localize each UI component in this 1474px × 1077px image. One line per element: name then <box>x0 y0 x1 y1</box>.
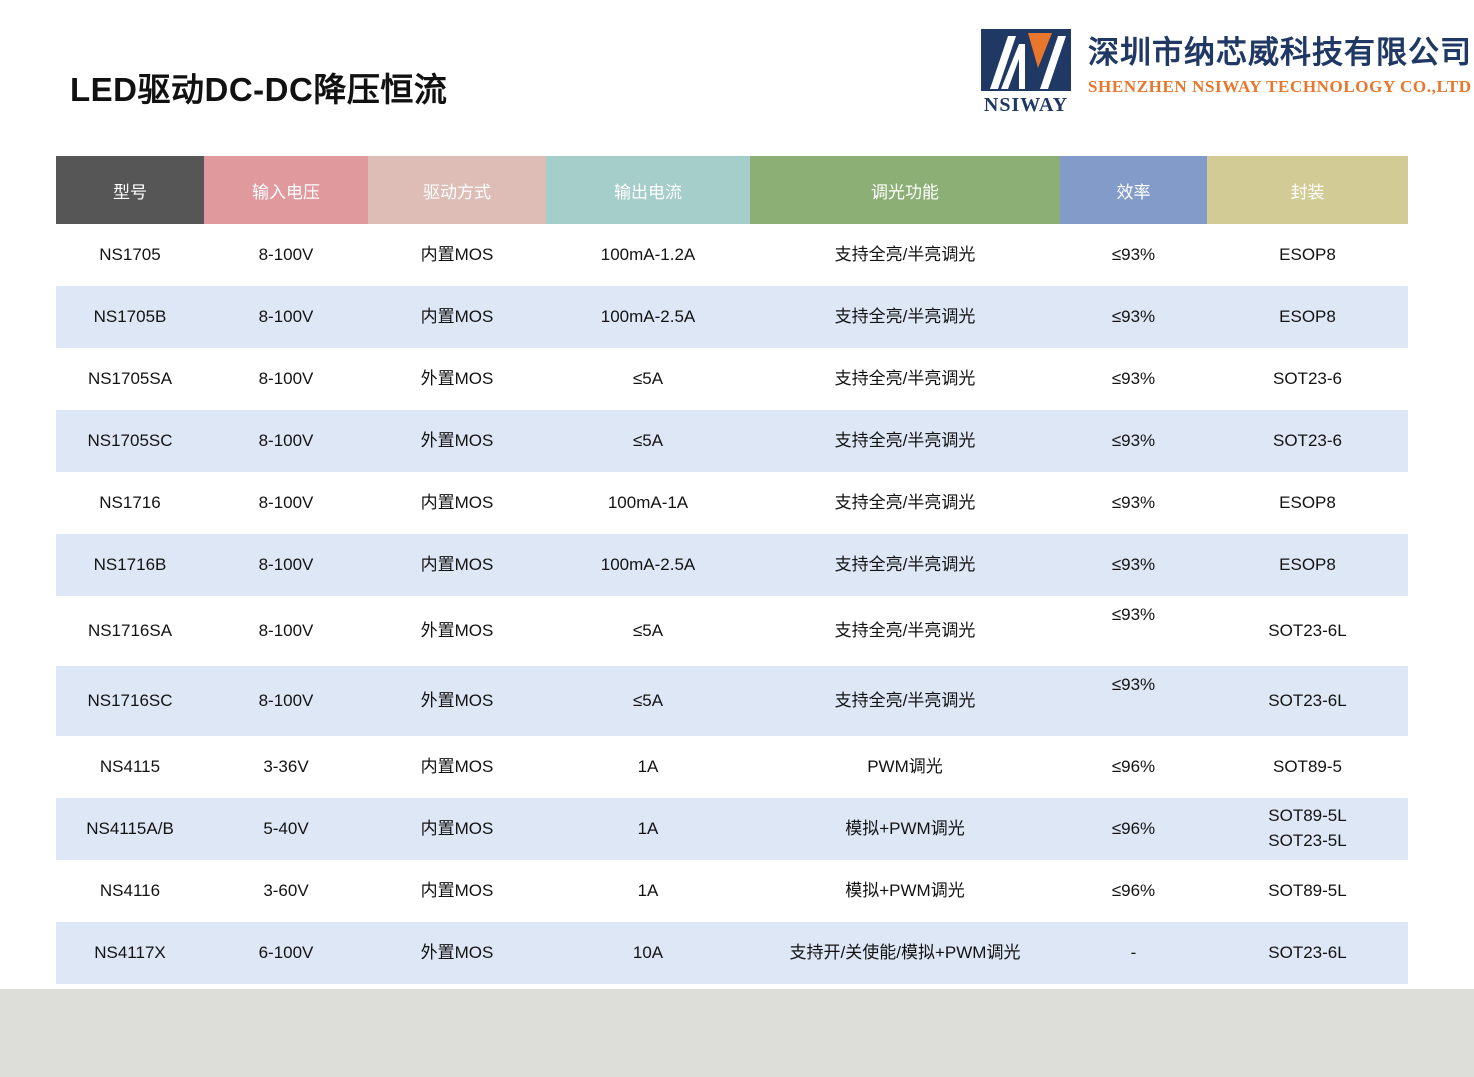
cell-input-voltage: 8-100V <box>204 410 368 472</box>
cell-drive-type: 内置MOS <box>368 286 546 348</box>
cell-dimming: 支持全亮/半亮调光 <box>750 534 1060 596</box>
cell-drive-type: 内置MOS <box>368 224 546 286</box>
cell-dimming: 支持开/关使能/模拟+PWM调光 <box>750 922 1060 984</box>
cell-model: NS4115 <box>56 736 204 798</box>
product-spec-table: 型号 输入电压 驱动方式 输出电流 调光功能 效率 封装 NS1705 8-10… <box>56 156 1408 984</box>
slide-canvas: LED驱动DC-DC降压恒流 NSIWAY 深圳市纳芯威科技有限公司 <box>0 0 1474 1077</box>
cell-package: SOT23-6L <box>1207 596 1408 666</box>
cell-output-current: 1A <box>546 860 750 922</box>
table-row: NS1716SA 8-100V 外置MOS ≤5A 支持全亮/半亮调光 ≤93%… <box>56 596 1408 666</box>
table-row: NS4116 3-60V 内置MOS 1A 模拟+PWM调光 ≤96% SOT8… <box>56 860 1408 922</box>
cell-efficiency: - <box>1060 922 1207 984</box>
cell-dimming: 支持全亮/半亮调光 <box>750 472 1060 534</box>
page-title: LED驱动DC-DC降压恒流 <box>70 63 447 111</box>
column-header-output-current: 输出电流 <box>546 156 750 224</box>
company-branding: NSIWAY 深圳市纳芯威科技有限公司 SHENZHEN NSIWAY TECH… <box>978 26 1472 118</box>
cell-dimming: 支持全亮/半亮调光 <box>750 410 1060 472</box>
table-row: NS1705SC 8-100V 外置MOS ≤5A 支持全亮/半亮调光 ≤93%… <box>56 410 1408 472</box>
cell-efficiency: ≤93% <box>1060 410 1207 472</box>
cell-input-voltage: 8-100V <box>204 286 368 348</box>
company-name-en: SHENZHEN NSIWAY TECHNOLOGY CO.,LTD <box>1088 77 1472 97</box>
cell-output-current: 100mA-2.5A <box>546 534 750 596</box>
cell-drive-type: 内置MOS <box>368 736 546 798</box>
cell-output-current: ≤5A <box>546 348 750 410</box>
cell-output-current: 100mA-1A <box>546 472 750 534</box>
cell-dimming: 支持全亮/半亮调光 <box>750 224 1060 286</box>
cell-package: SOT89-5 <box>1207 736 1408 798</box>
cell-package: SOT23-6 <box>1207 410 1408 472</box>
cell-input-voltage: 8-100V <box>204 596 368 666</box>
svg-text:NSIWAY: NSIWAY <box>984 94 1068 116</box>
cell-package: SOT23-6 <box>1207 348 1408 410</box>
table-row: NS1705 8-100V 内置MOS 100mA-1.2A 支持全亮/半亮调光… <box>56 224 1408 286</box>
table-row: NS1705B 8-100V 内置MOS 100mA-2.5A 支持全亮/半亮调… <box>56 286 1408 348</box>
cell-input-voltage: 8-100V <box>204 534 368 596</box>
column-header-input-voltage: 输入电压 <box>204 156 368 224</box>
column-header-package: 封装 <box>1207 156 1408 224</box>
cell-output-current: 10A <box>546 922 750 984</box>
cell-model: NS1705SA <box>56 348 204 410</box>
cell-input-voltage: 8-100V <box>204 472 368 534</box>
cell-output-current: 1A <box>546 798 750 860</box>
cell-model: NS1716SA <box>56 596 204 666</box>
cell-package: ESOP8 <box>1207 224 1408 286</box>
cell-model: NS1705B <box>56 286 204 348</box>
cell-input-voltage: 6-100V <box>204 922 368 984</box>
cell-drive-type: 内置MOS <box>368 472 546 534</box>
cell-model: NS1705SC <box>56 410 204 472</box>
cell-drive-type: 内置MOS <box>368 860 546 922</box>
cell-drive-type: 外置MOS <box>368 410 546 472</box>
cell-model: NS1716 <box>56 472 204 534</box>
cell-input-voltage: 8-100V <box>204 224 368 286</box>
cell-input-voltage: 8-100V <box>204 348 368 410</box>
table-row: NS1716B 8-100V 内置MOS 100mA-2.5A 支持全亮/半亮调… <box>56 534 1408 596</box>
cell-output-current: ≤5A <box>546 596 750 666</box>
brand-text-block: 深圳市纳芯威科技有限公司 SHENZHEN NSIWAY TECHNOLOGY … <box>1088 26 1472 97</box>
cell-input-voltage: 3-60V <box>204 860 368 922</box>
cell-dimming: 支持全亮/半亮调光 <box>750 348 1060 410</box>
cell-package: SOT23-6L <box>1207 666 1408 736</box>
cell-drive-type: 外置MOS <box>368 596 546 666</box>
cell-model: NS4117X <box>56 922 204 984</box>
cell-efficiency: ≤93% <box>1060 286 1207 348</box>
cell-drive-type: 内置MOS <box>368 798 546 860</box>
cell-dimming: 模拟+PWM调光 <box>750 860 1060 922</box>
cell-dimming: 支持全亮/半亮调光 <box>750 666 1060 736</box>
cell-output-current: 100mA-2.5A <box>546 286 750 348</box>
cell-output-current: 100mA-1.2A <box>546 224 750 286</box>
cell-efficiency: ≤93% <box>1060 224 1207 286</box>
cell-model: NS4115A/B <box>56 798 204 860</box>
cell-dimming: 模拟+PWM调光 <box>750 798 1060 860</box>
cell-efficiency: ≤93% <box>1060 534 1207 596</box>
cell-model: NS1716SC <box>56 666 204 736</box>
cell-output-current: 1A <box>546 736 750 798</box>
cell-package: SOT89-5L <box>1207 860 1408 922</box>
company-name-cn: 深圳市纳芯威科技有限公司 <box>1088 36 1472 72</box>
cell-efficiency: ≤96% <box>1060 736 1207 798</box>
cell-efficiency: ≤93% <box>1060 472 1207 534</box>
cell-efficiency: ≤93% <box>1060 596 1207 666</box>
cell-model: NS1705 <box>56 224 204 286</box>
table-body: NS1705 8-100V 内置MOS 100mA-1.2A 支持全亮/半亮调光… <box>56 224 1408 984</box>
cell-efficiency: ≤96% <box>1060 860 1207 922</box>
column-header-efficiency: 效率 <box>1060 156 1207 224</box>
footer-band <box>0 989 1474 1077</box>
cell-input-voltage: 3-36V <box>204 736 368 798</box>
table-row: NS4115 3-36V 内置MOS 1A PWM调光 ≤96% SOT89-5 <box>56 736 1408 798</box>
cell-drive-type: 内置MOS <box>368 534 546 596</box>
cell-drive-type: 外置MOS <box>368 348 546 410</box>
cell-package: ESOP8 <box>1207 286 1408 348</box>
cell-package: SOT89-5LSOT23-5L <box>1207 798 1408 860</box>
cell-dimming: 支持全亮/半亮调光 <box>750 596 1060 666</box>
cell-dimming: 支持全亮/半亮调光 <box>750 286 1060 348</box>
column-header-drive-type: 驱动方式 <box>368 156 546 224</box>
table-row: NS4117X 6-100V 外置MOS 10A 支持开/关使能/模拟+PWM调… <box>56 922 1408 984</box>
table-header-row: 型号 输入电压 驱动方式 输出电流 调光功能 效率 封装 <box>56 156 1408 224</box>
cell-input-voltage: 5-40V <box>204 798 368 860</box>
cell-package: ESOP8 <box>1207 534 1408 596</box>
column-header-model: 型号 <box>56 156 204 224</box>
cell-dimming: PWM调光 <box>750 736 1060 798</box>
cell-package: SOT23-6L <box>1207 922 1408 984</box>
cell-input-voltage: 8-100V <box>204 666 368 736</box>
column-header-dimming: 调光功能 <box>750 156 1060 224</box>
cell-drive-type: 外置MOS <box>368 666 546 736</box>
cell-model: NS4116 <box>56 860 204 922</box>
table-row: NS1716SC 8-100V 外置MOS ≤5A 支持全亮/半亮调光 ≤93%… <box>56 666 1408 736</box>
table-row: NS1716 8-100V 内置MOS 100mA-1A 支持全亮/半亮调光 ≤… <box>56 472 1408 534</box>
cell-output-current: ≤5A <box>546 666 750 736</box>
cell-model: NS1716B <box>56 534 204 596</box>
nsiway-logo-icon: NSIWAY <box>978 26 1074 118</box>
cell-drive-type: 外置MOS <box>368 922 546 984</box>
cell-output-current: ≤5A <box>546 410 750 472</box>
cell-efficiency: ≤93% <box>1060 666 1207 736</box>
table-row: NS4115A/B 5-40V 内置MOS 1A 模拟+PWM调光 ≤96% S… <box>56 798 1408 860</box>
table-row: NS1705SA 8-100V 外置MOS ≤5A 支持全亮/半亮调光 ≤93%… <box>56 348 1408 410</box>
cell-package: ESOP8 <box>1207 472 1408 534</box>
cell-efficiency: ≤96% <box>1060 798 1207 860</box>
cell-efficiency: ≤93% <box>1060 348 1207 410</box>
